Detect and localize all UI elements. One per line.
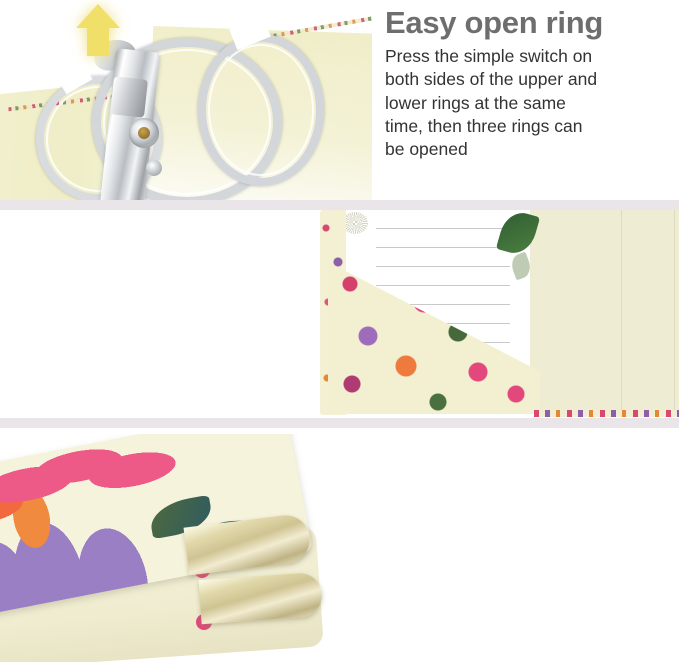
panel-separator-1 (0, 200, 679, 210)
inner-pocket-photo (318, 210, 679, 418)
binder-ring-right (198, 34, 324, 186)
paper-rule-line (376, 266, 510, 267)
corner-guard-photo (0, 434, 372, 662)
feature-infographic: Easy open ring Press the simple switch o… (0, 0, 679, 662)
ring-release-lever (110, 76, 148, 117)
feature-body: Press the simple switch on both sides of… (385, 45, 677, 162)
ring-mechanism-photo (0, 0, 372, 200)
panel-premium-corner-guards: Premium Corner Guards Not only beautiful… (0, 428, 679, 662)
feature-title: Easy open ring (385, 6, 677, 41)
paper-rule-line (376, 228, 510, 229)
paper-rule-line (376, 285, 510, 286)
text-block-easy-open-ring: Easy open ring Press the simple switch o… (385, 6, 677, 162)
ring-screw (146, 160, 162, 176)
metal-corner-guard-lower (199, 572, 324, 624)
panel-easy-open-ring: Easy open ring Press the simple switch o… (0, 0, 679, 200)
floral-trim-strip (534, 410, 679, 417)
panel-built-in-pockets: Built in pockets to store loose document (0, 210, 679, 418)
binder-cover-right (529, 210, 679, 410)
ring-pivot-rivet (129, 118, 159, 148)
cover-crease-2 (674, 210, 675, 410)
cover-crease-1 (621, 210, 622, 410)
up-arrow-icon (74, 2, 122, 58)
paper-rule-line (376, 247, 510, 248)
panel-separator-2 (0, 418, 679, 428)
